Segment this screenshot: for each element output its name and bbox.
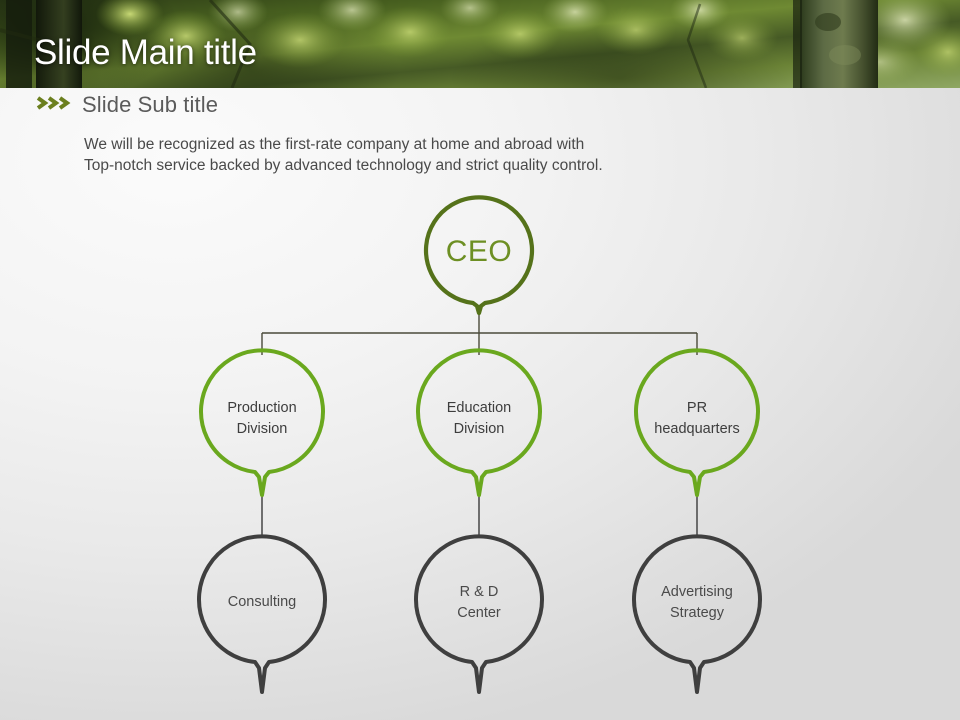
node-ceo[interactable]: CEO xyxy=(426,197,532,313)
organization-chart: CEO Production Division Education Divisi… xyxy=(0,0,960,720)
node-consulting[interactable]: Consulting xyxy=(199,536,325,692)
connector-lines-lower xyxy=(262,495,697,538)
node-pr-headquarters[interactable]: PR headquarters xyxy=(636,350,758,495)
node-pr-headquarters-label-line2: headquarters xyxy=(654,421,739,437)
node-pr-headquarters-label-line1: PR xyxy=(687,400,707,416)
node-advertising-strategy-label-line1: Advertising xyxy=(661,584,733,600)
node-rd-center[interactable]: R & D Center xyxy=(416,536,542,692)
node-rd-center-label-line2: Center xyxy=(457,605,501,621)
node-education-division[interactable]: Education Division xyxy=(418,350,540,495)
node-production-division-label-line1: Production xyxy=(227,400,296,416)
node-advertising-strategy[interactable]: Advertising Strategy xyxy=(634,536,760,692)
node-education-division-label-line2: Division xyxy=(454,421,505,437)
node-ceo-label: CEO xyxy=(446,235,513,268)
node-education-division-label-line1: Education xyxy=(447,400,512,416)
node-consulting-label-line1: Consulting xyxy=(228,594,297,610)
node-rd-center-label-line1: R & D xyxy=(460,584,499,600)
presentation-slide: Slide Main title Slide Sub title We will… xyxy=(0,0,960,720)
consulting-bubble-shape xyxy=(199,536,325,692)
node-production-division-label-line2: Division xyxy=(237,421,288,437)
node-advertising-strategy-label-line2: Strategy xyxy=(670,605,725,621)
node-production-division[interactable]: Production Division xyxy=(201,350,323,495)
page-title: Slide Main title xyxy=(34,33,257,73)
